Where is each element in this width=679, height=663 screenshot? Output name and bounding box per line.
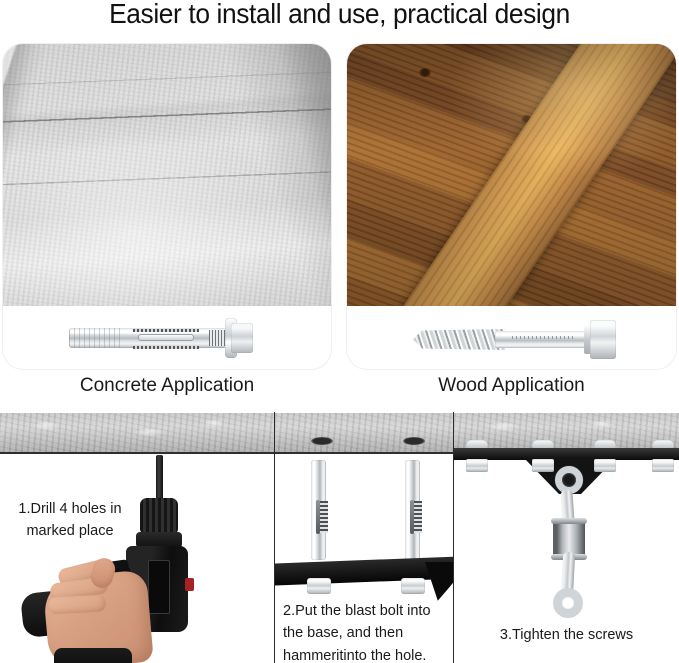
concrete-fastener-strip xyxy=(3,306,331,369)
wood-texture xyxy=(347,44,676,306)
drill-chuck xyxy=(140,498,178,534)
step-3-caption: 3.Tighten the screws xyxy=(454,624,679,646)
lag-screw-shank xyxy=(495,331,593,348)
wood-knot-icon xyxy=(590,73,608,86)
wood-knot-icon xyxy=(521,115,532,123)
anchor-knurl-bottom xyxy=(133,346,199,349)
application-cards xyxy=(0,44,679,369)
wood-knot-icon xyxy=(492,206,506,216)
hex-nut xyxy=(652,459,674,472)
hex-nut xyxy=(466,459,488,472)
concrete-application-card xyxy=(3,44,331,369)
hex-nut xyxy=(401,578,425,594)
anchor-knurl-top xyxy=(133,329,199,332)
concrete-application-caption: Concrete Application xyxy=(3,375,331,397)
drilled-holes xyxy=(275,413,453,452)
step-2-insert-bolt: 2.Put the blast bolt into the base, and … xyxy=(275,412,453,663)
wood-fastener-strip xyxy=(347,306,676,369)
swivel-band xyxy=(551,518,587,524)
wood-application-caption: Wood Application xyxy=(347,375,676,397)
drilled-hole-icon xyxy=(403,437,425,445)
anchor-hex-nut xyxy=(231,323,253,353)
wood-ceiling-photo xyxy=(347,44,676,306)
concrete-ceiling-photo xyxy=(3,44,331,306)
wrist-sleeve xyxy=(54,648,132,663)
hex-nut xyxy=(307,578,331,594)
step-1-drill-holes: 1.Drill 4 holes in marked place xyxy=(0,412,274,663)
drill-vent-window xyxy=(148,560,170,614)
hex-nut xyxy=(594,459,616,472)
mounting-base-plate xyxy=(275,556,453,586)
drill-red-button xyxy=(185,578,194,591)
ceiling-speckles xyxy=(0,413,274,452)
wood-beam xyxy=(347,264,485,306)
swivel-bottom-eye xyxy=(553,588,583,618)
finger xyxy=(48,594,107,614)
product-infographic: Easier to install and use, practical des… xyxy=(0,0,679,663)
drilled-hole-icon xyxy=(311,437,333,445)
step-1-caption: 1.Drill 4 holes in marked place xyxy=(6,498,134,543)
concrete-ceiling-strip xyxy=(0,413,274,454)
anchor-expansion-slot xyxy=(138,334,194,341)
wood-knot-icon xyxy=(419,68,431,77)
installation-steps: 1.Drill 4 holes in marked place 2.Put th… xyxy=(0,412,679,663)
page-title: Easier to install and use, practical des… xyxy=(20,0,658,30)
anchor-knurl xyxy=(320,501,328,533)
anchor-knurl xyxy=(414,501,422,533)
step-3-tighten-screws: 3.Tighten the screws xyxy=(454,412,679,663)
step-divider xyxy=(453,412,454,663)
concrete-ceiling-strip xyxy=(275,413,453,454)
lag-screw-threads xyxy=(413,327,505,352)
wood-beam xyxy=(375,44,676,306)
wood-application-card xyxy=(347,44,676,369)
anchor-sleeve-lines xyxy=(69,328,121,348)
hex-nut xyxy=(532,459,554,472)
lag-screw-shank-lines xyxy=(512,336,576,339)
step-2-caption: 2.Put the blast bolt into the base, and … xyxy=(283,600,453,663)
lag-screw-hex-head xyxy=(590,320,616,359)
drill-bit xyxy=(156,455,163,501)
step-divider xyxy=(274,412,275,663)
concrete-texture xyxy=(3,44,331,306)
